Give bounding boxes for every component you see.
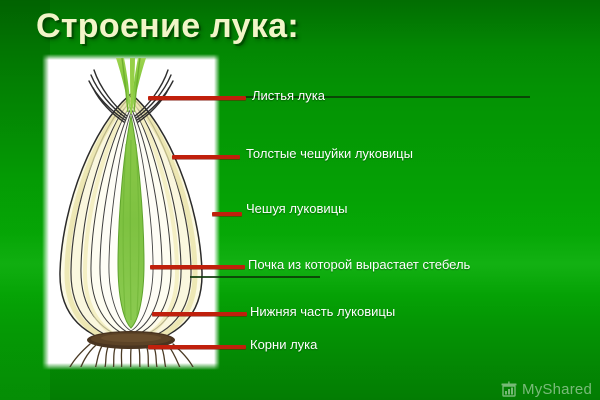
pointer-line-onion-leaves <box>148 96 246 100</box>
label-bulb-lower-part: Нижняя часть луковицы <box>250 304 395 319</box>
divider-line-bottom <box>190 276 320 278</box>
label-onion-roots: Корни лука <box>250 337 317 352</box>
presentation-chart-icon <box>500 381 518 398</box>
label-bud-stem: Почка из которой вырастает стебель <box>248 257 470 272</box>
label-onion-leaves: Листья лука <box>252 88 325 103</box>
pointer-line-bulb-lower-part <box>152 312 247 316</box>
label-bulb-scale: Чешуя луковицы <box>246 201 347 216</box>
onion-bulb-drawing <box>42 54 220 370</box>
myshared-watermark: MyShared <box>500 381 592 398</box>
slide-canvas: Строение лука: <box>0 0 600 400</box>
pointer-line-onion-roots <box>148 345 246 349</box>
pointer-line-bud-stem <box>150 265 245 269</box>
watermark-label: MyShared <box>522 381 592 398</box>
pointer-line-thick-scales <box>172 155 240 159</box>
pointer-line-bulb-scale <box>212 212 242 216</box>
onion-illustration <box>42 54 220 370</box>
label-thick-scales: Толстые чешуйки луковицы <box>246 146 413 161</box>
page-title: Строение лука: <box>36 7 299 46</box>
